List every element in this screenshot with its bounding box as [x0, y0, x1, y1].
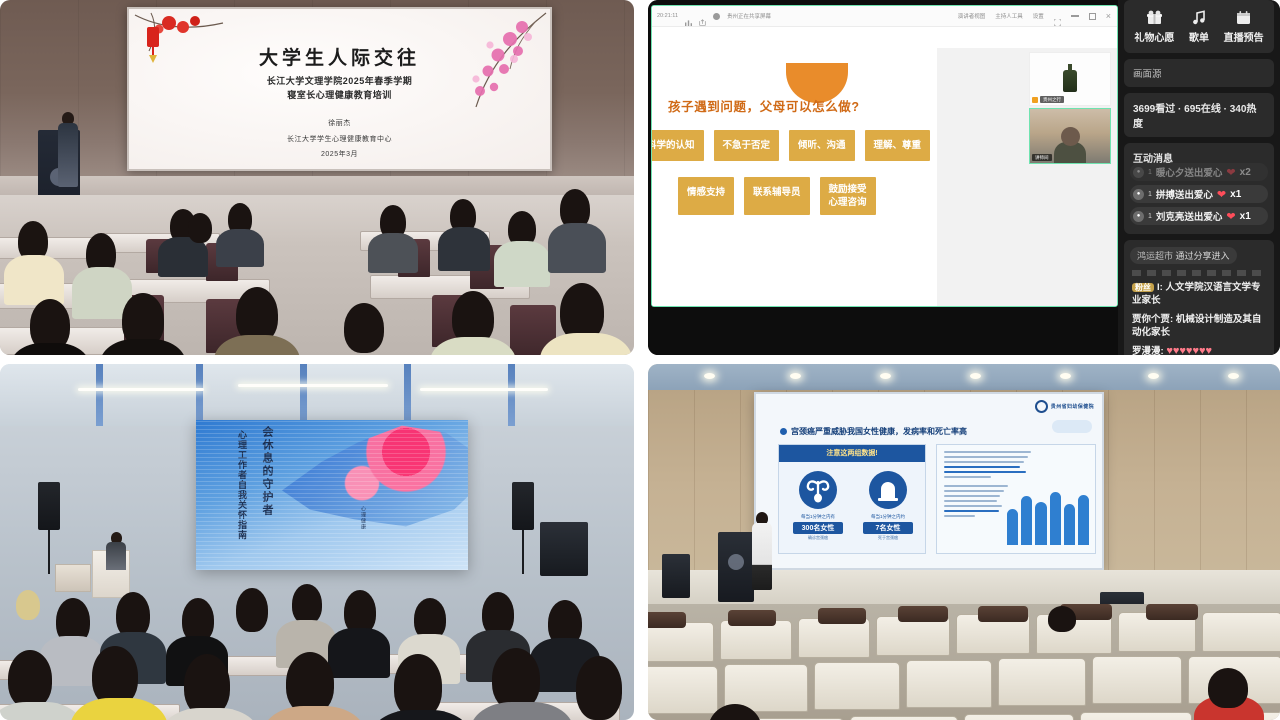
gift-count: x1	[1240, 211, 1251, 222]
live-slide: 孩子遇到问题，父母可以怎么做? 科学的认知 不急于否定 倾听、沟通 理解、尊重 …	[652, 27, 940, 306]
stat-value: 300名女性	[793, 522, 843, 534]
enter-notice: 鸿运超市 通过分享进入	[1130, 247, 1237, 264]
share-icon[interactable]	[699, 13, 706, 20]
slide-subtitle-line1: 长江大学文理学院2025年春季学期	[129, 74, 550, 88]
poster-sub-title: 心理工作者自我关怀指南	[234, 430, 249, 550]
stat-note: 确诊宫颈癌	[787, 535, 849, 541]
speaker-box-right	[512, 482, 534, 530]
panel-lecture-hall: 大学生人际交往 长江大学文理学院2025年春季学期 寝室长心理健康教育培训 徐丽…	[0, 0, 634, 355]
chat-card: 鸿运超市 通过分享进入 粉丝I: 人文学院汉语言文学专业家长 贾你个贾: 机械设…	[1124, 240, 1274, 355]
shared-document: 孩子遇到问题，父母可以怎么做? 科学的认知 不急于否定 倾听、沟通 理解、尊重 …	[652, 27, 1117, 306]
level-badge: 1	[1148, 191, 1152, 198]
quick-action-label: 礼物心愿	[1134, 33, 1174, 44]
chip-row-2: 情感支持 联系辅导员 鼓励接受 心理咨询	[678, 177, 876, 215]
chart-icon[interactable]	[685, 13, 692, 20]
avatar: ●	[1133, 167, 1144, 178]
record-dot-icon	[713, 13, 720, 20]
logo-text: 贵州省妇幼保健院	[1051, 403, 1094, 410]
photo-collage: 大学生人际交往 长江大学文理学院2025年春季学期 寝室长心理健康教育培训 徐丽…	[0, 0, 1280, 720]
stat-lead: 每当1分钟之内有	[787, 513, 849, 520]
tomb-icon	[869, 471, 907, 509]
video-tile-active[interactable]: 讲师间	[1029, 108, 1111, 164]
close-icon[interactable]: ×	[1106, 13, 1111, 20]
poster-main-title: 会休息的守护者	[258, 426, 275, 564]
video-tile[interactable]: 贵州之行	[1029, 52, 1111, 106]
people-silhouettes	[1007, 487, 1089, 545]
tile-name: 讲师间	[1032, 154, 1052, 161]
stats-card-title: 注意这两组数据!	[779, 445, 925, 462]
panel-blue-screen-seminar: 会休息的守护者 心理工作者自我关怀指南 心理健康	[0, 364, 634, 720]
hospital-logo: 贵州省妇幼保健院	[1035, 400, 1094, 413]
stats-card: 3699看过 · 695在线 · 340热度	[1124, 93, 1274, 137]
map-artwork	[282, 420, 468, 536]
host-tools-menu[interactable]: 主持人工具	[995, 12, 1023, 20]
live-stage: 20:21:11 贵州正在共享屏幕 演讲者视图	[648, 0, 1118, 355]
auditorium: 贵州省妇幼保健院 宫颈癌严重威胁我国女性健康，发病率和死亡率高 注意这两组数据!	[648, 364, 1280, 720]
chip: 情感支持	[678, 177, 734, 215]
chip: 科学的认知	[651, 130, 704, 161]
chip-multiline: 鼓励接受 心理咨询	[820, 177, 876, 215]
slide-date: 2025年3月	[129, 149, 550, 159]
quick-actions-card: 礼物心愿 歌单 直播预告	[1124, 0, 1274, 53]
heart-icon: ❤	[1226, 166, 1235, 179]
heart-icon: ❤	[1226, 210, 1235, 223]
gift-icon	[1146, 10, 1163, 25]
slide-org: 长江大学学生心理健康教育中心	[129, 133, 550, 146]
share-view-menu[interactable]: 演讲者视图	[958, 12, 986, 20]
speaker-tl	[58, 112, 78, 187]
stat-value: 7名女性	[863, 522, 913, 534]
seating-area	[648, 604, 1280, 720]
gift-message: ● 1 拼搏送出爱心 ❤ x1	[1130, 185, 1268, 203]
live-slide-headline: 孩子遇到问题，父母可以怎么做?	[668, 96, 860, 115]
slide-presenter: 徐丽杰	[129, 117, 550, 130]
quick-action-label: 歌单	[1189, 33, 1209, 44]
chat-divider	[1132, 270, 1266, 276]
calendar-icon	[1235, 10, 1252, 25]
bottle-image	[1063, 70, 1077, 92]
level-badge: 1	[1148, 213, 1152, 220]
chip-line-1: 鼓励接受	[829, 183, 867, 196]
settings-menu[interactable]: 设置	[1033, 12, 1044, 20]
chip-line-2: 心理咨询	[829, 196, 867, 209]
stat-lead: 每当1分钟之内约	[857, 513, 919, 520]
slide-headline-br: 宫颈癌严重威胁我国女性健康，发病率和死亡率高	[780, 426, 1052, 437]
ribbon-badge	[1052, 420, 1092, 433]
gift-message: ● 1 暖心夕送出爱心 ❤ x2	[1130, 163, 1268, 181]
logo-ring-icon	[1035, 400, 1048, 413]
live-app-root: 20:21:11 贵州正在共享屏幕 演讲者视图	[648, 0, 1280, 355]
speaker-br	[752, 512, 772, 590]
slide-title-tl: 大学生人际交往	[129, 43, 550, 70]
side-table	[55, 564, 91, 592]
tile-name: 贵州之行	[1040, 96, 1064, 103]
video-tile-rail: 贵州之行 讲师间	[937, 48, 1117, 306]
slide-subtitle-line2: 寝室长心理健康教育培训	[129, 88, 550, 102]
avatar: ●	[1133, 211, 1144, 222]
chat-message: 粉丝I: 人文学院汉语言文学专业家长	[1124, 278, 1274, 310]
source-label: 画面源	[1124, 59, 1274, 87]
heart-row-icon: ♥♥♥♥♥♥♥	[1166, 345, 1212, 355]
stats-card-br: 注意这两组数据! 每当1分钟之内有 300名女性 确诊宫颈癌	[778, 444, 926, 554]
panel-auditorium-health-lecture: 贵州省妇幼保健院 宫颈癌严重威胁我国女性健康，发病率和死亡率高 注意这两组数据!	[648, 364, 1280, 720]
gift-message: ● 1 刘克亮送出爱心 ❤ x1	[1130, 207, 1268, 225]
fan-badge: 粉丝	[1132, 283, 1154, 292]
share-doc-title: 贵州正在共享屏幕	[727, 12, 771, 20]
avatar: ●	[1133, 189, 1144, 200]
stat-block: 每当1分钟之内有 300名女性 确诊宫颈癌	[787, 471, 849, 541]
gift-text: 刘克亮送出爱心	[1156, 209, 1223, 223]
chat-user: I	[1157, 282, 1160, 293]
gift-count: x2	[1240, 167, 1251, 178]
chat-message: 罗漫漫: ♥♥♥♥♥♥♥	[1124, 342, 1274, 355]
level-badge: 1	[1148, 169, 1152, 176]
chat-message: 贾你个贾: 机械设计制造及其自动化家长	[1124, 310, 1274, 342]
share-toolbar: 20:21:11 贵州正在共享屏幕 演讲者视图	[652, 6, 1117, 27]
headline-text: 宫颈癌严重威胁我国女性健康，发病率和死亡率高	[791, 427, 967, 436]
amplifier-rack	[540, 522, 588, 576]
audience-area-tl	[0, 195, 634, 355]
stat-block: 每当1分钟之内约 7名女性 死于宫颈癌	[857, 471, 919, 541]
enter-user: 鸿运超市	[1137, 251, 1173, 261]
chat-user: 贾你个贾	[1132, 314, 1170, 325]
quick-action-preview[interactable]: 直播预告	[1221, 10, 1266, 46]
seminar-room: 会休息的守护者 心理工作者自我关怀指南 心理健康	[0, 364, 634, 720]
heart-icon: ❤	[1217, 188, 1226, 201]
source-card[interactable]: 画面源	[1124, 59, 1274, 87]
speaker-box-left-br	[662, 554, 690, 598]
chip: 倾听、沟通	[789, 130, 855, 161]
chip: 理解、尊重	[865, 130, 931, 161]
led-screen-bl: 会休息的守护者 心理工作者自我关怀指南 心理健康	[196, 420, 468, 570]
ceiling	[0, 364, 634, 426]
chip: 不急于否定	[714, 130, 780, 161]
stat-note: 死于宫颈癌	[857, 535, 919, 541]
speaker-box-left	[38, 482, 60, 530]
live-sidebar: 礼物心愿 歌单 直播预告	[1118, 0, 1280, 355]
audience-area-bl	[0, 594, 634, 720]
minimize-icon[interactable]	[1071, 15, 1079, 17]
speaker-stand-left	[48, 530, 50, 574]
speaker-stand-right	[522, 530, 524, 574]
quick-action-gift[interactable]: 礼物心愿	[1132, 10, 1177, 46]
projector-screen-tl: 大学生人际交往 长江大学文理学院2025年春季学期 寝室长心理健康教育培训 徐丽…	[127, 7, 552, 171]
gift-count: x1	[1230, 189, 1241, 200]
music-icon	[1191, 10, 1208, 25]
enter-text: 通过分享进入	[1176, 251, 1230, 261]
chip: 联系辅导员	[744, 177, 810, 215]
fullscreen-icon[interactable]	[1054, 13, 1061, 20]
quick-action-label: 直播预告	[1224, 33, 1264, 44]
gift-text: 暖心夕送出爱心	[1156, 165, 1223, 179]
bullet-icon	[780, 428, 787, 435]
podium-br	[718, 532, 754, 602]
poster-small-text: 心理健康	[360, 506, 367, 530]
chat-user: 罗漫漫	[1132, 346, 1161, 355]
panel-livestream-console: 20:21:11 贵州正在共享屏幕 演讲者视图	[648, 0, 1280, 355]
text-card-br	[936, 444, 1096, 554]
interaction-card: 互动消息 ● 1 暖心夕送出爱心 ❤ x2 ● 1 拼搏送出爱心 ❤ x1	[1124, 143, 1274, 234]
mic-muted-icon	[1032, 97, 1038, 103]
toolbar-time: 20:21:11	[657, 13, 678, 19]
gift-text: 拼搏送出爱心	[1156, 187, 1213, 201]
live-stats: 3699看过 · 695在线 · 340热度	[1124, 93, 1274, 137]
shared-screen-window: 20:21:11 贵州正在共享屏幕 演讲者视图	[651, 5, 1118, 307]
uterus-icon	[799, 471, 837, 509]
speaker-bl	[106, 532, 126, 570]
maximize-icon[interactable]	[1089, 13, 1096, 20]
quick-action-songlist[interactable]: 歌单	[1177, 10, 1222, 46]
projector-screen-br: 贵州省妇幼保健院 宫颈癌严重威胁我国女性健康，发病率和死亡率高 注意这两组数据!	[754, 392, 1104, 570]
chip-row-1: 科学的认知 不急于否定 倾听、沟通 理解、尊重	[651, 130, 930, 161]
